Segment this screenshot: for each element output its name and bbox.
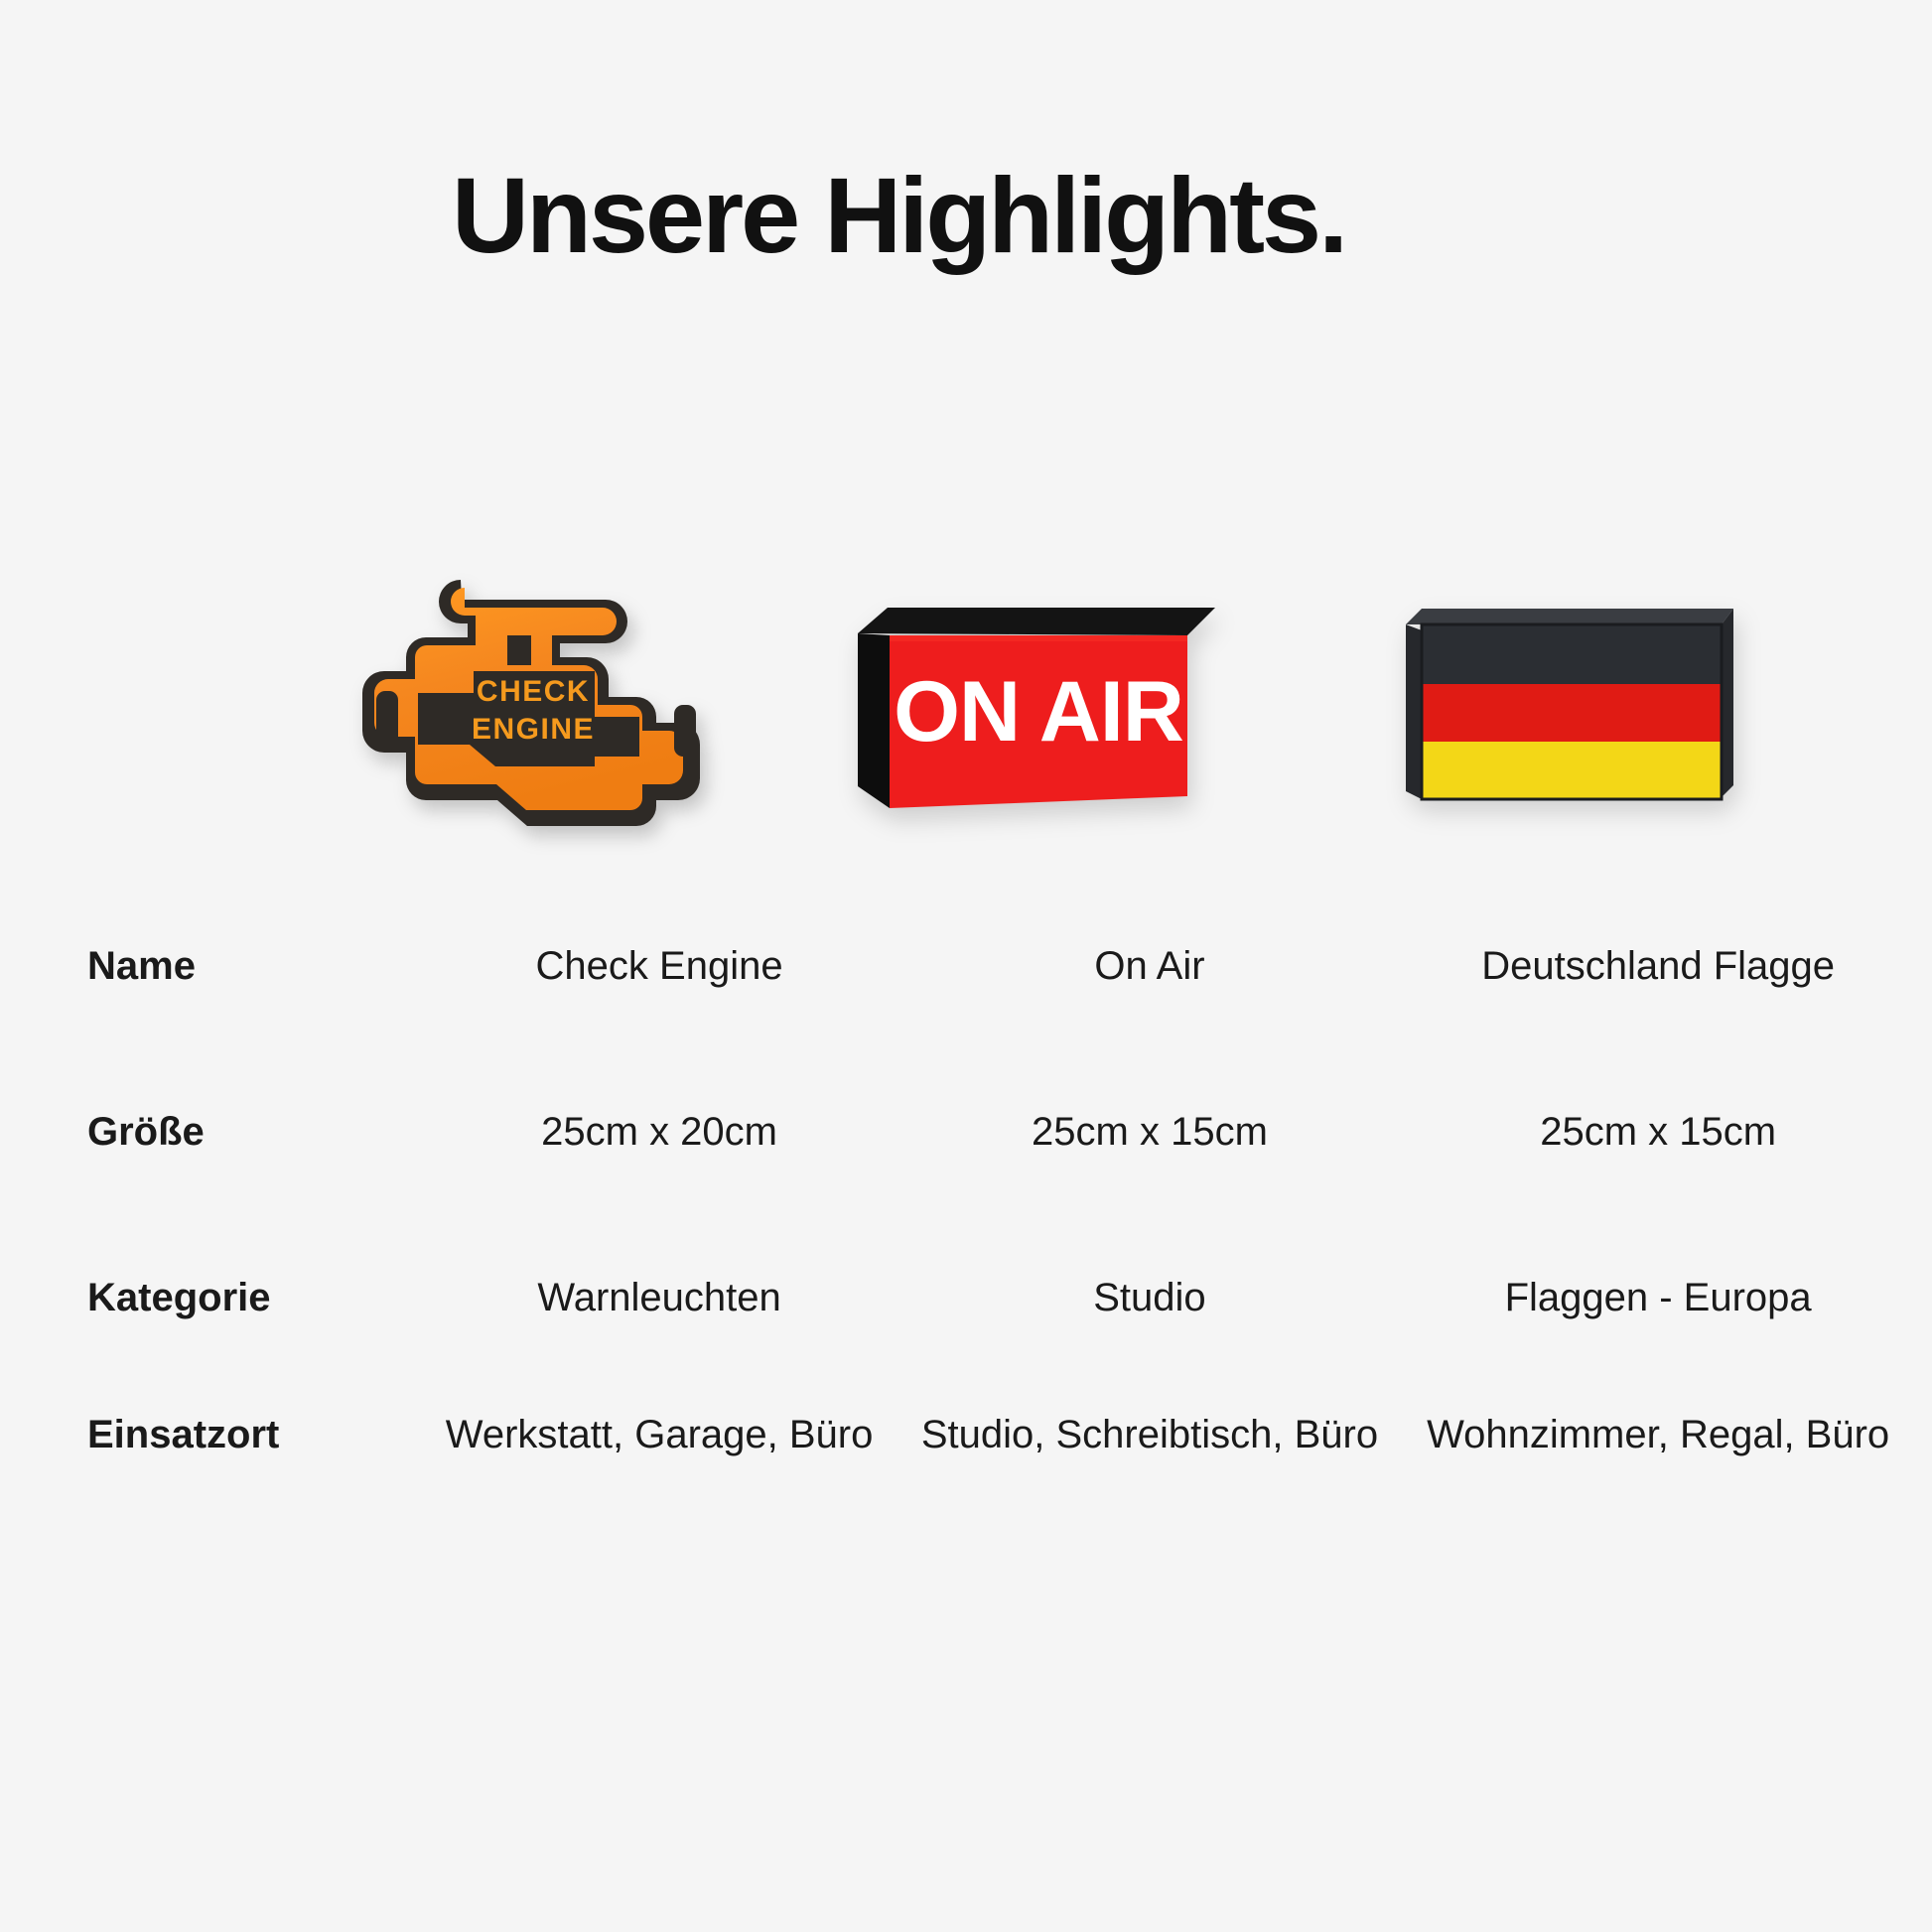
table-row: Größe 25cm x 20cm 25cm x 15cm 25cm x 15c… (0, 1104, 1932, 1161)
cell-einsatzort-check-engine: Werkstatt, Garage, Büro (403, 1407, 914, 1463)
cell-kategorie-check-engine: Warnleuchten (403, 1270, 914, 1326)
table-row: Kategorie Warnleuchten Studio Flaggen - … (0, 1270, 1932, 1326)
german-flag-lightbox-icon (1392, 595, 1745, 815)
product-spec-table: Name Check Engine On Air Deutschland Fla… (0, 938, 1932, 1463)
product-image-on-air[interactable]: ON AIR (774, 541, 1291, 869)
row-label-groesse: Größe (0, 1104, 403, 1161)
cell-kategorie-on-air: Studio (915, 1270, 1385, 1326)
table-row-spacer (0, 1161, 1932, 1270)
table-row-spacer (0, 995, 1932, 1104)
cell-groesse-check-engine: 25cm x 20cm (403, 1104, 914, 1161)
cell-kategorie-deutschland-flagge: Flaggen - Europa (1384, 1270, 1932, 1326)
highlights-page: Unsere Highlights. (0, 0, 1932, 1932)
check-engine-lamp-icon: CHECK ENGINE (352, 580, 720, 830)
table-row: Einsatzort Werkstatt, Garage, Büro Studi… (0, 1407, 1932, 1463)
cell-name-deutschland-flagge: Deutschland Flagge (1384, 938, 1932, 995)
product-image-check-engine[interactable]: CHECK ENGINE (298, 541, 774, 869)
cell-einsatzort-on-air: Studio, Schreibtisch, Büro (915, 1407, 1385, 1463)
row-label-einsatzort: Einsatzort (0, 1407, 403, 1463)
cell-einsatzort-deutschland-flagge: Wohnzimmer, Regal, Büro (1384, 1407, 1932, 1463)
on-air-lightbox-icon: ON AIR (850, 592, 1215, 818)
table-row-spacer (0, 1325, 1932, 1407)
product-image-row: CHECK ENGINE ON AIR (298, 541, 1847, 869)
cell-groesse-on-air: 25cm x 15cm (915, 1104, 1385, 1161)
check-engine-label-line1: CHECK (477, 675, 590, 708)
cell-name-on-air: On Air (915, 938, 1385, 995)
check-engine-label-line2: ENGINE (472, 713, 595, 746)
product-image-deutschland-flagge[interactable] (1291, 541, 1847, 869)
cell-name-check-engine: Check Engine (403, 938, 914, 995)
on-air-label: ON AIR (894, 664, 1183, 759)
page-title: Unsere Highlights. (452, 159, 1345, 271)
row-label-name: Name (0, 938, 403, 995)
row-label-kategorie: Kategorie (0, 1270, 403, 1326)
table-row: Name Check Engine On Air Deutschland Fla… (0, 938, 1932, 995)
cell-groesse-deutschland-flagge: 25cm x 15cm (1384, 1104, 1932, 1161)
